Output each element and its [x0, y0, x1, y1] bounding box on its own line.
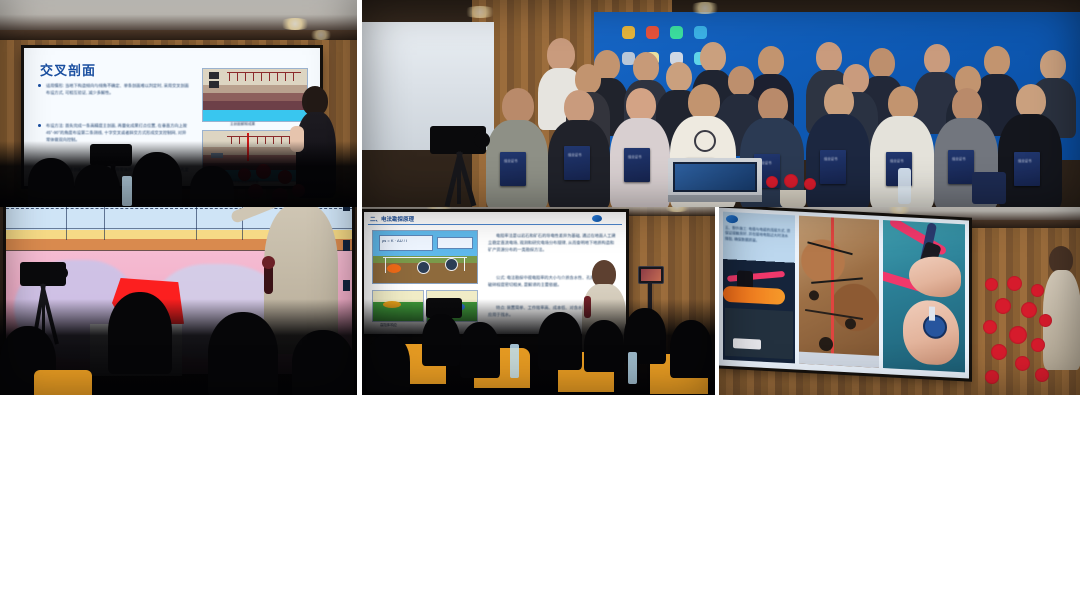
certificate-label: 结业证书: [1018, 158, 1032, 163]
audience-head: [108, 292, 172, 374]
certificate-label: 结业证书: [568, 152, 582, 157]
certificate-label: 结业证书: [628, 154, 642, 159]
participant-front: 结业证书: [548, 90, 610, 207]
crosssection-slide-title: 交叉剖面: [40, 60, 96, 79]
desktop-icon[interactable]: [622, 26, 635, 39]
audience-head: [538, 312, 582, 370]
water-bottle: [122, 176, 132, 206]
field-photo-cable: 五、野外施工: 电极与电缆的连接方式, 须保证接触良好, 并在接地电阻过大时浇水…: [723, 212, 795, 364]
photo-collage: 地下水位线 强渗透含水层顶板 潜水层 弱透水层底板 承压水顶板 高阻异常区 图 …: [0, 0, 1080, 607]
principle-formula: ρs = K · ΔU / I: [382, 238, 407, 243]
principle-slide-title: 二、电法勘探原理: [370, 215, 414, 223]
certificate-folder: 结业证书: [1014, 152, 1040, 186]
ad-logo-icon: [592, 215, 602, 222]
panel-group-photo[interactable]: 结业证书 结业证书 结业证书: [362, 0, 1080, 207]
certificate-label: 结业证书: [952, 156, 966, 161]
water-bottle: [510, 344, 519, 378]
participant-front: 结业证书: [610, 88, 670, 207]
desktop-icon[interactable]: [670, 26, 683, 39]
desktop-icon[interactable]: [694, 26, 707, 39]
audience-head: [132, 152, 182, 207]
audience-head: [74, 164, 120, 207]
laptop[interactable]: [668, 158, 762, 202]
field-photo-connector: [883, 220, 965, 372]
certificate-folder: 结业证书: [500, 152, 526, 186]
water-bottle: [628, 352, 637, 384]
audience-head: [584, 320, 624, 372]
certificate-folder: 结业证书: [624, 148, 650, 182]
principle-body-0: 电阻率法是以岩石和矿石的导电性差异为基础, 通过在地面人工建立稳定直流电场, 观…: [488, 232, 618, 253]
desktop-icon[interactable]: [646, 26, 659, 39]
field-photo-ground: [799, 216, 879, 368]
handbag: [972, 172, 1006, 204]
certificate-label: 结业证书: [890, 158, 904, 163]
audience-head: [208, 312, 278, 395]
crosssection-figure-caption-0: 主剖面解释成果: [230, 122, 255, 127]
field-slide-caption: 五、野外施工: 电极与电缆的连接方式, 须保证接触良好, 并在接地电阻过大时浇水…: [725, 226, 791, 246]
participant-front: 结业证书: [998, 84, 1062, 207]
audience-head: [422, 314, 460, 366]
panel-field-operation[interactable]: 五、野外施工: 电极与电缆的连接方式, 须保证接触良好, 并在接地电阻过大时浇水…: [719, 202, 1080, 395]
certificate-label: 结业证书: [504, 158, 518, 163]
flower-arrangement: [981, 276, 1055, 394]
crosssection-bullet-0: 适用情形: 当地下构造倾向与倾角不确定、单条剖面难以判定时, 采用交叉剖面布设方…: [46, 82, 190, 96]
audience-head: [670, 320, 712, 378]
audience-head: [460, 322, 500, 378]
crosssection-figure-main: [202, 68, 308, 122]
audience-head: [292, 330, 354, 395]
audience-head: [190, 166, 234, 207]
principle-figure-setup: ρs = K · ΔU / I: [372, 230, 478, 284]
flower-vase: [762, 174, 828, 207]
water-bottle: [898, 168, 911, 204]
tripod-camera: [430, 126, 496, 207]
panel-resistivity-principle[interactable]: 二、电法勘探原理 ρs = K · ΔU / I: [362, 202, 715, 395]
audience-head: [28, 158, 74, 207]
projection-screen-field: 五、野外施工: 电极与电缆的连接方式, 须保证接触良好, 并在接地电阻过大时浇水…: [719, 207, 969, 378]
panel-cross-section-slide[interactable]: 交叉剖面 适用情形: 当地下构造倾向与倾角不确定、单条剖面难以判定时, 采用交叉…: [0, 0, 357, 207]
audience-head: [366, 334, 410, 392]
certificate-label: 结业证书: [824, 156, 838, 161]
certificate-folder: 结业证书: [948, 150, 974, 184]
certificate-folder: 结业证书: [564, 146, 590, 180]
